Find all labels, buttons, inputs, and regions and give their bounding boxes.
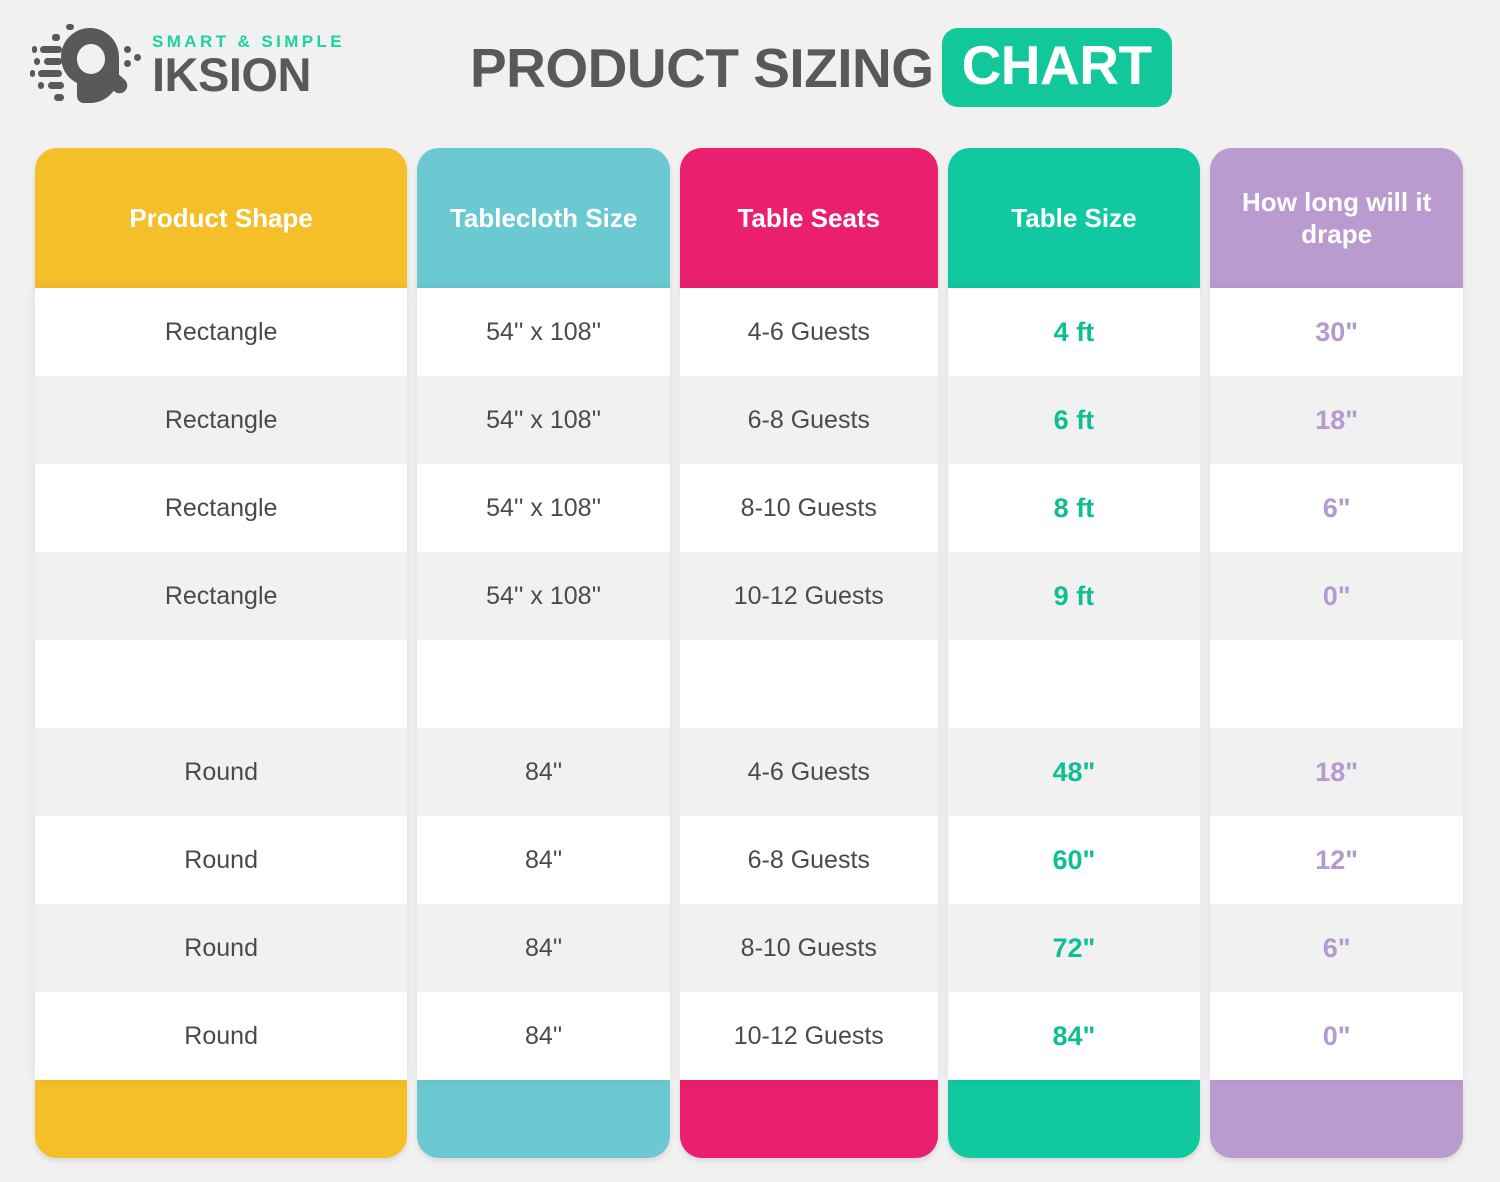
table-columns: Product Shape Rectangle Rectangle Rectan… [35,148,1463,1158]
table-cell: 6 ft [948,376,1201,464]
column-footer-drape-length [1210,1080,1463,1158]
header-bar: SMART & SIMPLE IKSION PRODUCT SIZINGCHAR… [0,0,1500,130]
column-tablecloth-size: Tablecloth Size 54'' x 108'' 54'' x 108'… [417,148,670,1158]
table-cell: 84" [948,992,1201,1080]
table-cell: 8-10 Guests [680,464,938,552]
table-cell: Rectangle [35,464,407,552]
table-cell: 8 ft [948,464,1201,552]
column-body-drape-length: 30" 18" 6" 0" 18" 12" 6" 0" [1210,288,1463,1080]
table-cell: 18" [1210,376,1463,464]
table-cell: 0" [1210,992,1463,1080]
table-cell: 60" [948,816,1201,904]
page-title-highlight: CHART [942,28,1172,107]
table-cell: 8-10 Guests [680,904,938,992]
column-divider [938,148,948,1158]
table-cell: 84'' [417,816,670,904]
table-cell: Rectangle [35,552,407,640]
column-body-tablecloth-size: 54'' x 108'' 54'' x 108'' 54'' x 108'' 5… [417,288,670,1080]
column-divider [1200,148,1210,1158]
table-cell: 10-12 Guests [680,992,938,1080]
column-divider [407,148,417,1158]
table-cell: Round [35,728,407,816]
column-body-product-shape: Rectangle Rectangle Rectangle Rectangle … [35,288,407,1080]
table-cell-spacer [35,640,407,728]
table-cell: Round [35,992,407,1080]
table-cell: 4-6 Guests [680,728,938,816]
table-cell: 6-8 Guests [680,376,938,464]
table-cell: 54'' x 108'' [417,288,670,376]
table-cell: 84'' [417,904,670,992]
brand-name: IKSION [152,53,345,98]
table-cell: 84'' [417,992,670,1080]
table-cell: 4 ft [948,288,1201,376]
column-header-table-size: Table Size [948,148,1201,288]
table-cell: 48" [948,728,1201,816]
column-footer-tablecloth-size [417,1080,670,1158]
table-cell: 30" [1210,288,1463,376]
table-cell: 6" [1210,904,1463,992]
column-footer-product-shape [35,1080,407,1158]
table-cell: Round [35,904,407,992]
brand-logo: SMART & SIMPLE IKSION [30,20,345,110]
column-footer-table-size [948,1080,1201,1158]
column-divider [670,148,680,1158]
column-header-product-shape: Product Shape [35,148,407,288]
table-cell: 9 ft [948,552,1201,640]
table-cell: 84'' [417,728,670,816]
column-body-table-size: 4 ft 6 ft 8 ft 9 ft 48" 60" 72" 84" [948,288,1201,1080]
table-cell: Rectangle [35,288,407,376]
column-header-drape-length: How long will it drape [1210,148,1463,288]
table-cell: 54'' x 108'' [417,552,670,640]
column-header-table-seats: Table Seats [680,148,938,288]
table-cell: Rectangle [35,376,407,464]
table-cell: 72" [948,904,1201,992]
column-drape-length: How long will it drape 30" 18" 6" 0" 18"… [1210,148,1463,1158]
column-body-table-seats: 4-6 Guests 6-8 Guests 8-10 Guests 10-12 … [680,288,938,1080]
table-cell: 54'' x 108'' [417,376,670,464]
table-cell: 4-6 Guests [680,288,938,376]
column-footer-table-seats [680,1080,938,1158]
table-cell: 54'' x 108'' [417,464,670,552]
table-cell: 12" [1210,816,1463,904]
column-product-shape: Product Shape Rectangle Rectangle Rectan… [35,148,407,1158]
brand-text: SMART & SIMPLE IKSION [152,32,345,98]
table-cell: 6-8 Guests [680,816,938,904]
table-cell: 10-12 Guests [680,552,938,640]
column-header-tablecloth-size: Tablecloth Size [417,148,670,288]
page-title: PRODUCT SIZINGCHART [470,28,1172,107]
table-cell: 18" [1210,728,1463,816]
magnifier-logo-icon [30,24,148,106]
table-cell: 6" [1210,464,1463,552]
table-cell-spacer [948,640,1201,728]
table-cell: 0" [1210,552,1463,640]
column-table-size: Table Size 4 ft 6 ft 8 ft 9 ft 48" 60" 7… [948,148,1201,1158]
page-title-plain: PRODUCT SIZING [470,36,942,100]
table-cell-spacer [417,640,670,728]
column-table-seats: Table Seats 4-6 Guests 6-8 Guests 8-10 G… [680,148,938,1158]
table-cell-spacer [680,640,938,728]
table-cell: Round [35,816,407,904]
table-cell-spacer [1210,640,1463,728]
sizing-table: Product Shape Rectangle Rectangle Rectan… [35,148,1463,1158]
